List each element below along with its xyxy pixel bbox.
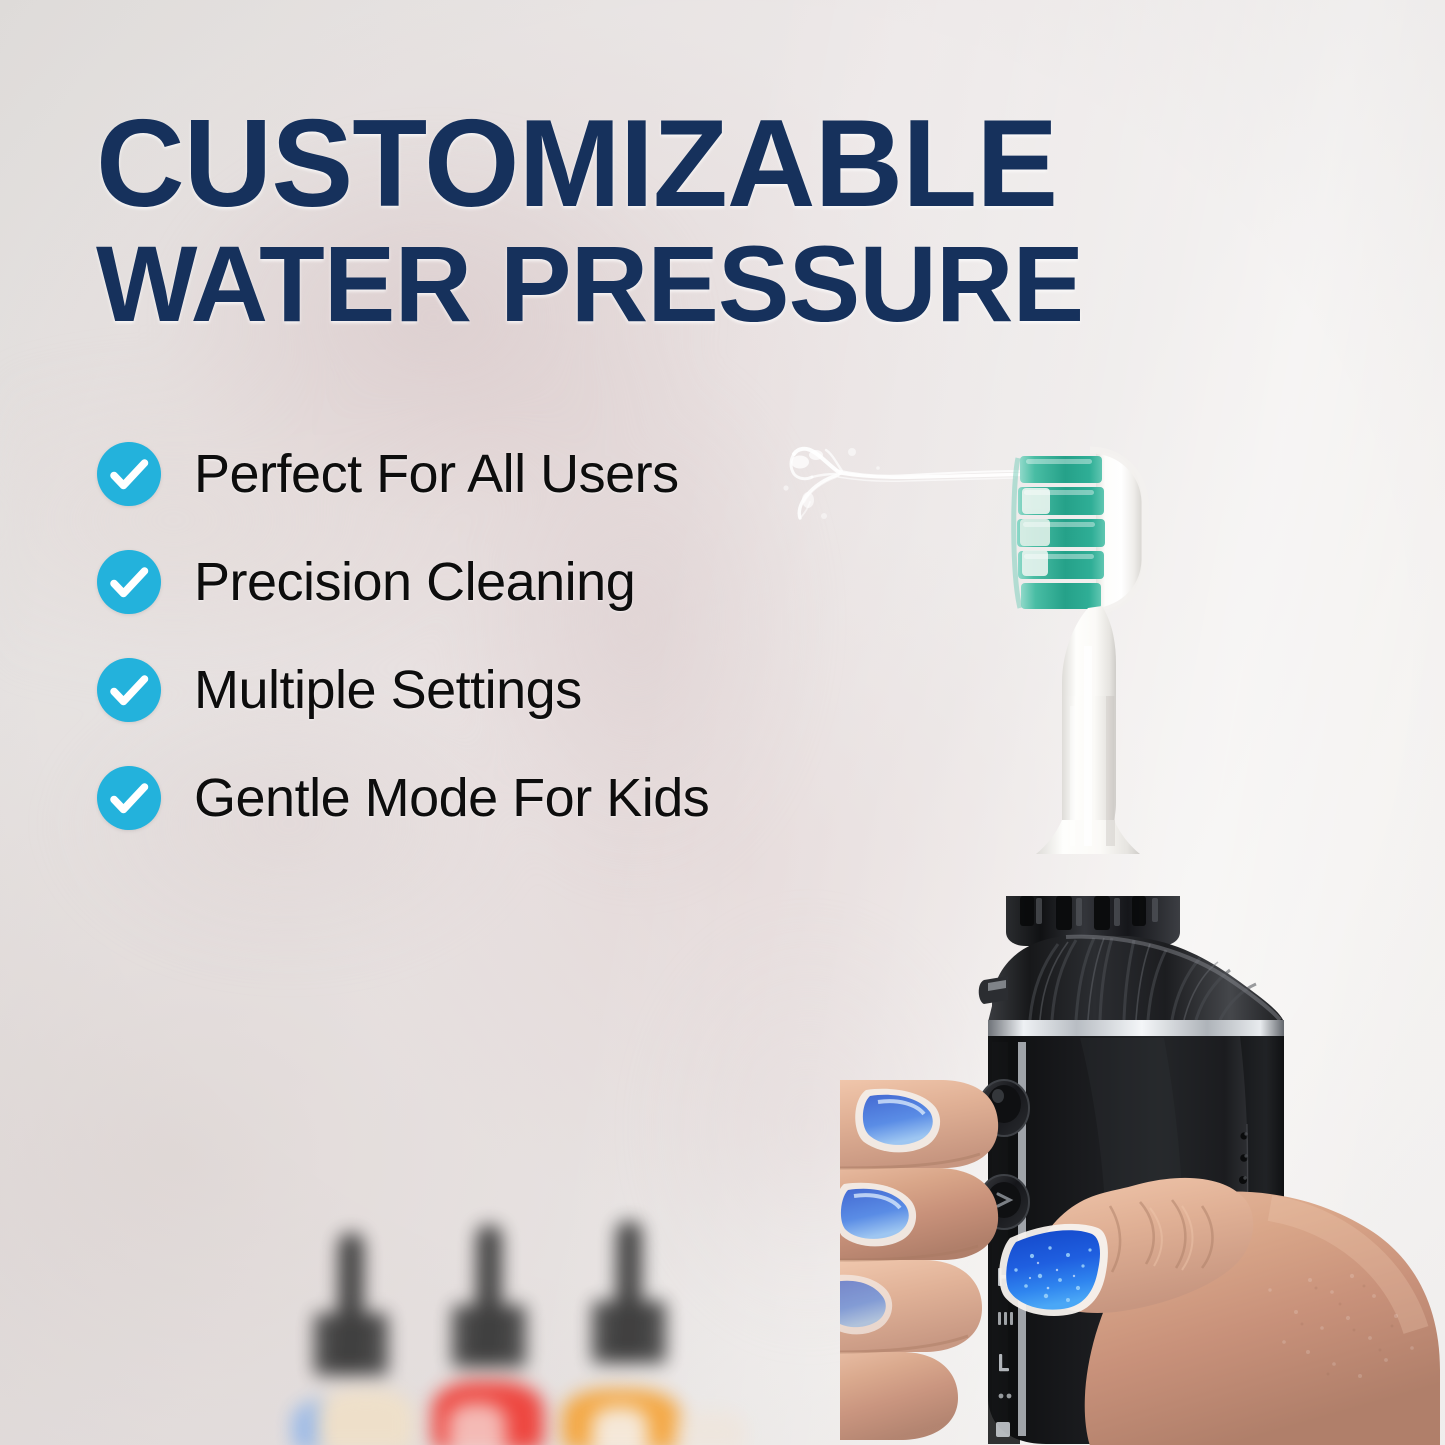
product-marketing-image: CUSTOMIZABLE WATER PRESSURE Perfect For … [0, 0, 1445, 1445]
brush-head [1000, 446, 1168, 876]
thumb-nail [999, 1224, 1108, 1316]
check-icon [97, 658, 161, 722]
list-item: Precision Cleaning [97, 545, 917, 619]
nozzle-base-cream [318, 1389, 414, 1445]
water-jet-spray [778, 444, 1038, 524]
nozzle-tip [616, 1221, 642, 1305]
chrome-trim-band [988, 1020, 1284, 1038]
list-item-label: Precision Cleaning [194, 551, 635, 613]
nozzle-base-white-right [676, 1411, 746, 1445]
check-icon [97, 766, 161, 830]
nozzle-base-white-left [592, 1407, 648, 1445]
background-nozzle-accessories [300, 1195, 730, 1445]
headline: CUSTOMIZABLE WATER PRESSURE [96, 104, 1216, 337]
nozzle-tip [476, 1225, 502, 1309]
check-icon [97, 442, 161, 506]
nozzle-tip [338, 1233, 364, 1317]
nozzle-collar [314, 1313, 388, 1375]
list-item-label: Multiple Settings [194, 659, 582, 721]
hand-holding-device [840, 1080, 1440, 1445]
headline-line-2: WATER PRESSURE [96, 232, 1210, 337]
list-item: Gentle Mode For Kids [97, 761, 917, 835]
list-item-label: Gentle Mode For Kids [194, 767, 709, 829]
nozzle-base-pink [448, 1403, 506, 1445]
background-nozzle-3 [592, 1221, 666, 1363]
nozzle-collar [592, 1301, 666, 1363]
background-nozzle-1 [314, 1233, 388, 1375]
check-icon [97, 550, 161, 614]
cap-side-clip [979, 976, 1008, 1004]
list-item: Multiple Settings [97, 653, 917, 727]
nozzle-collar [452, 1305, 526, 1367]
background-nozzle-2 [452, 1225, 526, 1367]
list-item-label: Perfect For All Users [194, 443, 679, 505]
headline-line-1: CUSTOMIZABLE [96, 104, 1205, 224]
